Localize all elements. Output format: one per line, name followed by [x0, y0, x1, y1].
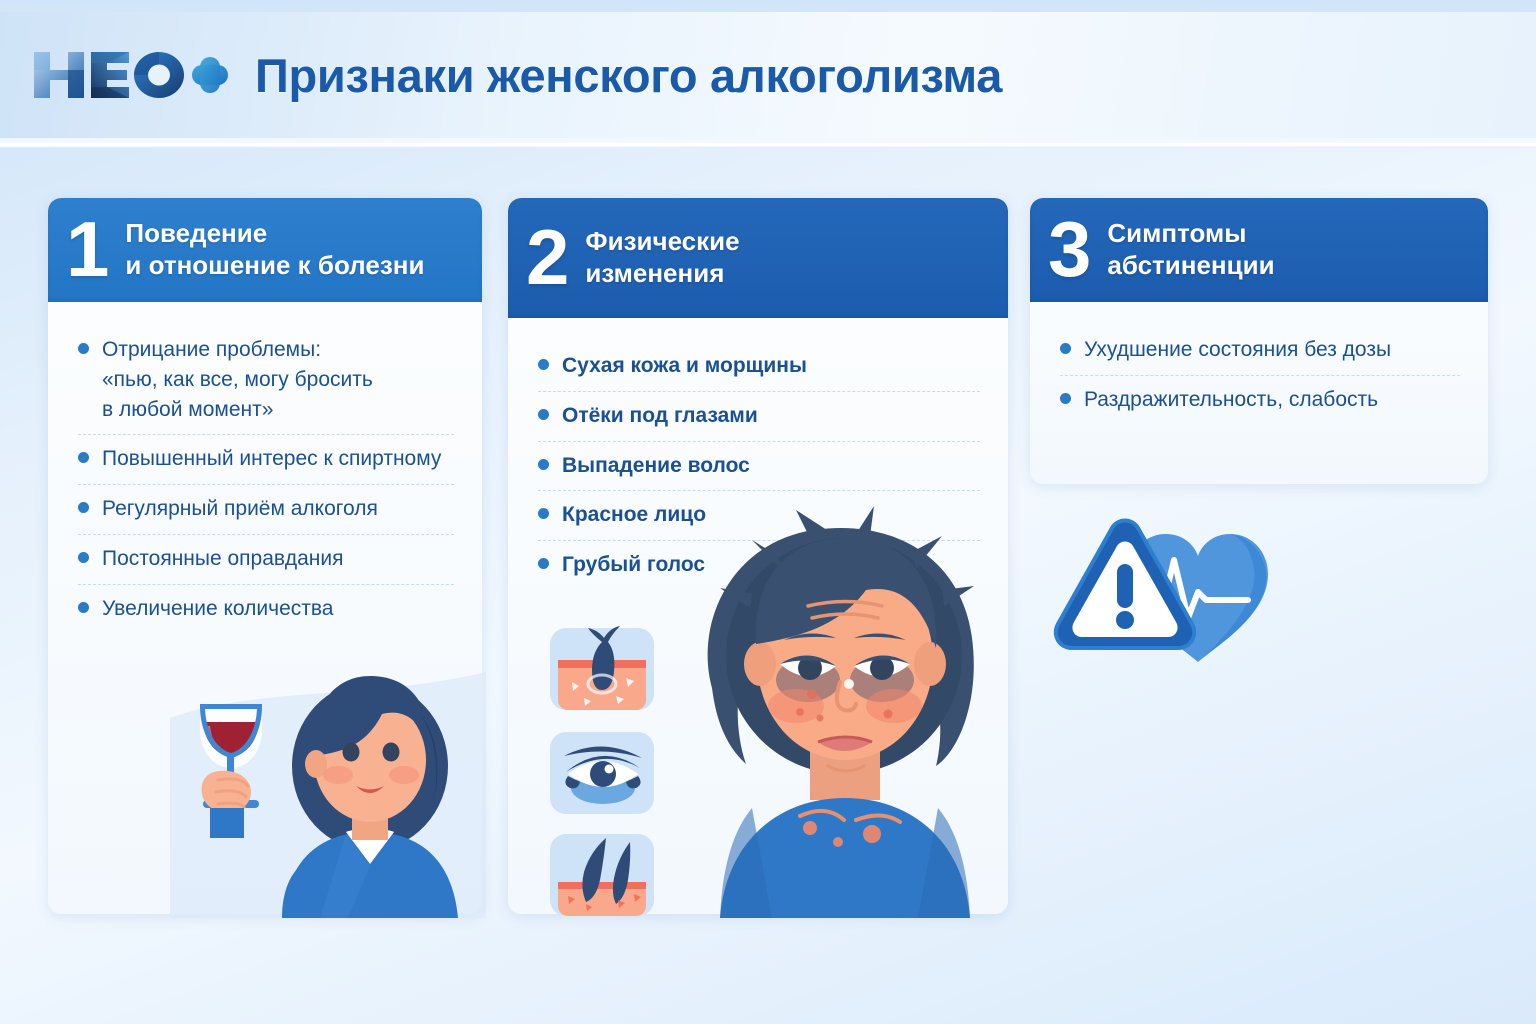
card-2-title: Физические изменения [585, 226, 739, 289]
card-3-header: 3 Симптомы абстиненции [1030, 198, 1488, 302]
infographic-page: Признаки женского алкоголизма 1 Поведени… [0, 0, 1536, 1024]
list-item: Сухая кожа и морщины [528, 342, 988, 391]
list-item-text: Регулярный приём алкоголя [102, 494, 378, 524]
card-2-body: Сухая кожа и морщины Отёки под глазами В… [508, 318, 1008, 590]
list-item: Отрицание проблемы: «пью, как все, могу … [68, 326, 462, 434]
list-item: Постоянные оправдания [68, 535, 462, 584]
page-title: Признаки женского алкоголизма [255, 48, 1002, 103]
card-3-title-line-2: абстиненции [1107, 250, 1274, 282]
card-3-title: Симптомы абстиненции [1107, 218, 1274, 281]
list-item-text: Раздражительность, слабость [1084, 385, 1378, 415]
list-item: Отёки под глазами [528, 392, 988, 441]
bullet-dot-icon [78, 552, 89, 563]
card-1-number: 1 [66, 218, 109, 282]
card-3-title-line-1: Симптомы [1107, 218, 1274, 250]
list-item: Регулярный приём алкоголя [68, 485, 462, 534]
neo-plus-logo [28, 45, 233, 105]
card-1-title-line-2: и отношение к болезни [125, 250, 424, 282]
list-item-text: Выпадение волос [562, 451, 750, 481]
header-bar: Признаки женского алкоголизма [0, 12, 1536, 138]
card-1-body: Отрицание проблемы: «пью, как все, могу … [48, 302, 482, 634]
warning-and-heartbeat-illustration [1052, 512, 1320, 672]
list-item-text: Сухая кожа и морщины [562, 351, 807, 381]
bullet-dot-icon [78, 502, 89, 513]
bullet-dot-icon [1060, 393, 1071, 404]
card-2-number: 2 [526, 226, 569, 290]
list-item-text: Грубый голос [562, 550, 705, 580]
bullet-dot-icon [538, 359, 549, 370]
card-3-number: 3 [1048, 218, 1091, 282]
card-2-title-line-2: изменения [585, 258, 739, 290]
list-item-text: Отрицание проблемы: «пью, как все, могу … [102, 335, 373, 424]
warning-triangle-icon [1056, 521, 1194, 649]
card-physical-changes: 2 Физические изменения Сухая кожа и морщ… [508, 198, 1008, 914]
list-item-text: Постоянные оправдания [102, 544, 343, 574]
card-2-title-line-1: Физические [585, 226, 739, 258]
list-item: Увеличение количества [68, 585, 462, 634]
card-2-header: 2 Физические изменения [508, 198, 1008, 318]
card-1-header: 1 Поведение и отношение к болезни [48, 198, 482, 302]
card-1-title: Поведение и отношение к болезни [125, 218, 424, 281]
bullet-dot-icon [538, 409, 549, 420]
list-item: Раздражительность, слабость [1050, 376, 1468, 425]
list-item-text: Увеличение количества [102, 594, 333, 624]
bullet-dot-icon [1060, 343, 1071, 354]
list-item-text: Отёки под глазами [562, 401, 758, 431]
card-behavior: 1 Поведение и отношение к болезни Отрица… [48, 198, 482, 914]
card-3-body: Ухудшение состояния без дозы Раздражител… [1030, 302, 1488, 425]
list-item-text: Ухудшение состояния без дозы [1084, 335, 1391, 365]
bullet-dot-icon [538, 558, 549, 569]
header-band: Признаки женского алкоголизма [0, 0, 1536, 143]
header-divider [0, 143, 1536, 148]
list-item-text: Красное лицо [562, 500, 706, 530]
card-1-title-line-1: Поведение [125, 218, 424, 250]
bullet-dot-icon [78, 452, 89, 463]
list-item: Красное лицо [528, 491, 988, 540]
list-item: Грубый голос [528, 541, 988, 590]
list-item: Выпадение волос [528, 442, 988, 491]
bullet-dot-icon [78, 602, 89, 613]
bullet-dot-icon [78, 343, 89, 354]
bullet-dot-icon [538, 459, 549, 470]
card-withdrawal-symptoms: 3 Симптомы абстиненции Ухудшение состоян… [1030, 198, 1488, 484]
list-item-text: Повышенный интерес к спиртному [102, 444, 441, 474]
heartbeat-heart-icon [1114, 534, 1268, 662]
list-item: Повышенный интерес к спиртному [68, 435, 462, 484]
bullet-dot-icon [538, 508, 549, 519]
list-item: Ухудшение состояния без дозы [1050, 326, 1468, 375]
